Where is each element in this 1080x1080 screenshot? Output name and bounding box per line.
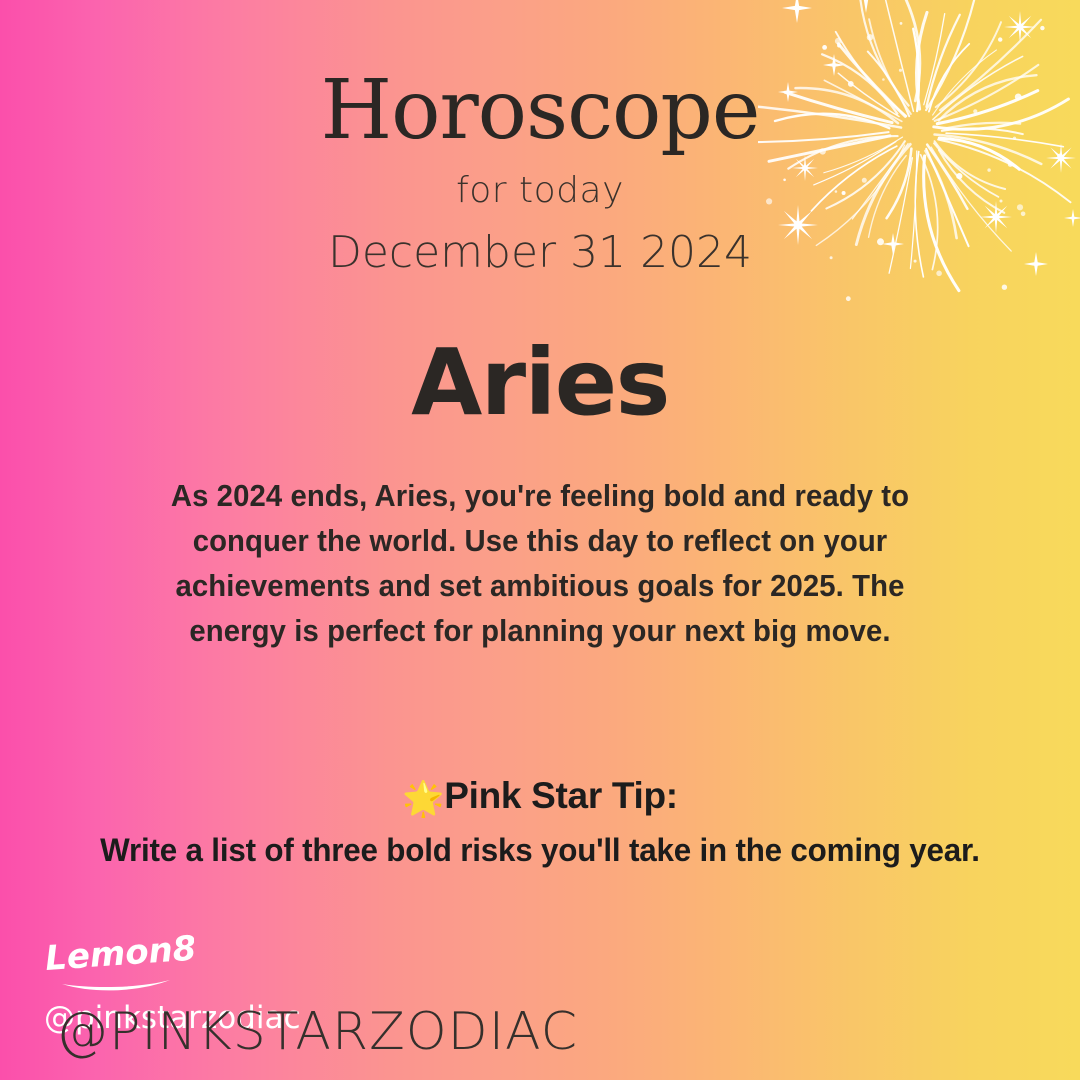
tip-body-text: Write a list of three bold risks you'll … (79, 825, 1000, 875)
page-title: Horoscope (0, 70, 1080, 152)
svg-text:Lemon8: Lemon8 (44, 932, 194, 979)
page-date: December 31 2024 (0, 227, 1080, 278)
zodiac-sign-name: Aries (0, 337, 1080, 429)
header-block: Horoscope for today December 31 2024 (0, 0, 1080, 278)
tip-heading-label: Pink Star Tip: (444, 775, 678, 816)
page-subtitle: for today (0, 170, 1080, 211)
tip-heading: 🌟Pink Star Tip: (70, 772, 1010, 823)
horoscope-poster: Horoscope for today December 31 2024 Ari… (0, 0, 1080, 1080)
lemon8-logo-icon: Lemon8 (44, 932, 194, 994)
glowing-star-icon: 🌟 (402, 780, 444, 818)
tip-block: 🌟Pink Star Tip: Write a list of three bo… (70, 772, 1010, 875)
horoscope-reading-text: As 2024 ends, Aries, you're feeling bold… (125, 474, 954, 654)
watermark-handle-dark: @PINKSTARZODIAC (56, 1006, 578, 1058)
